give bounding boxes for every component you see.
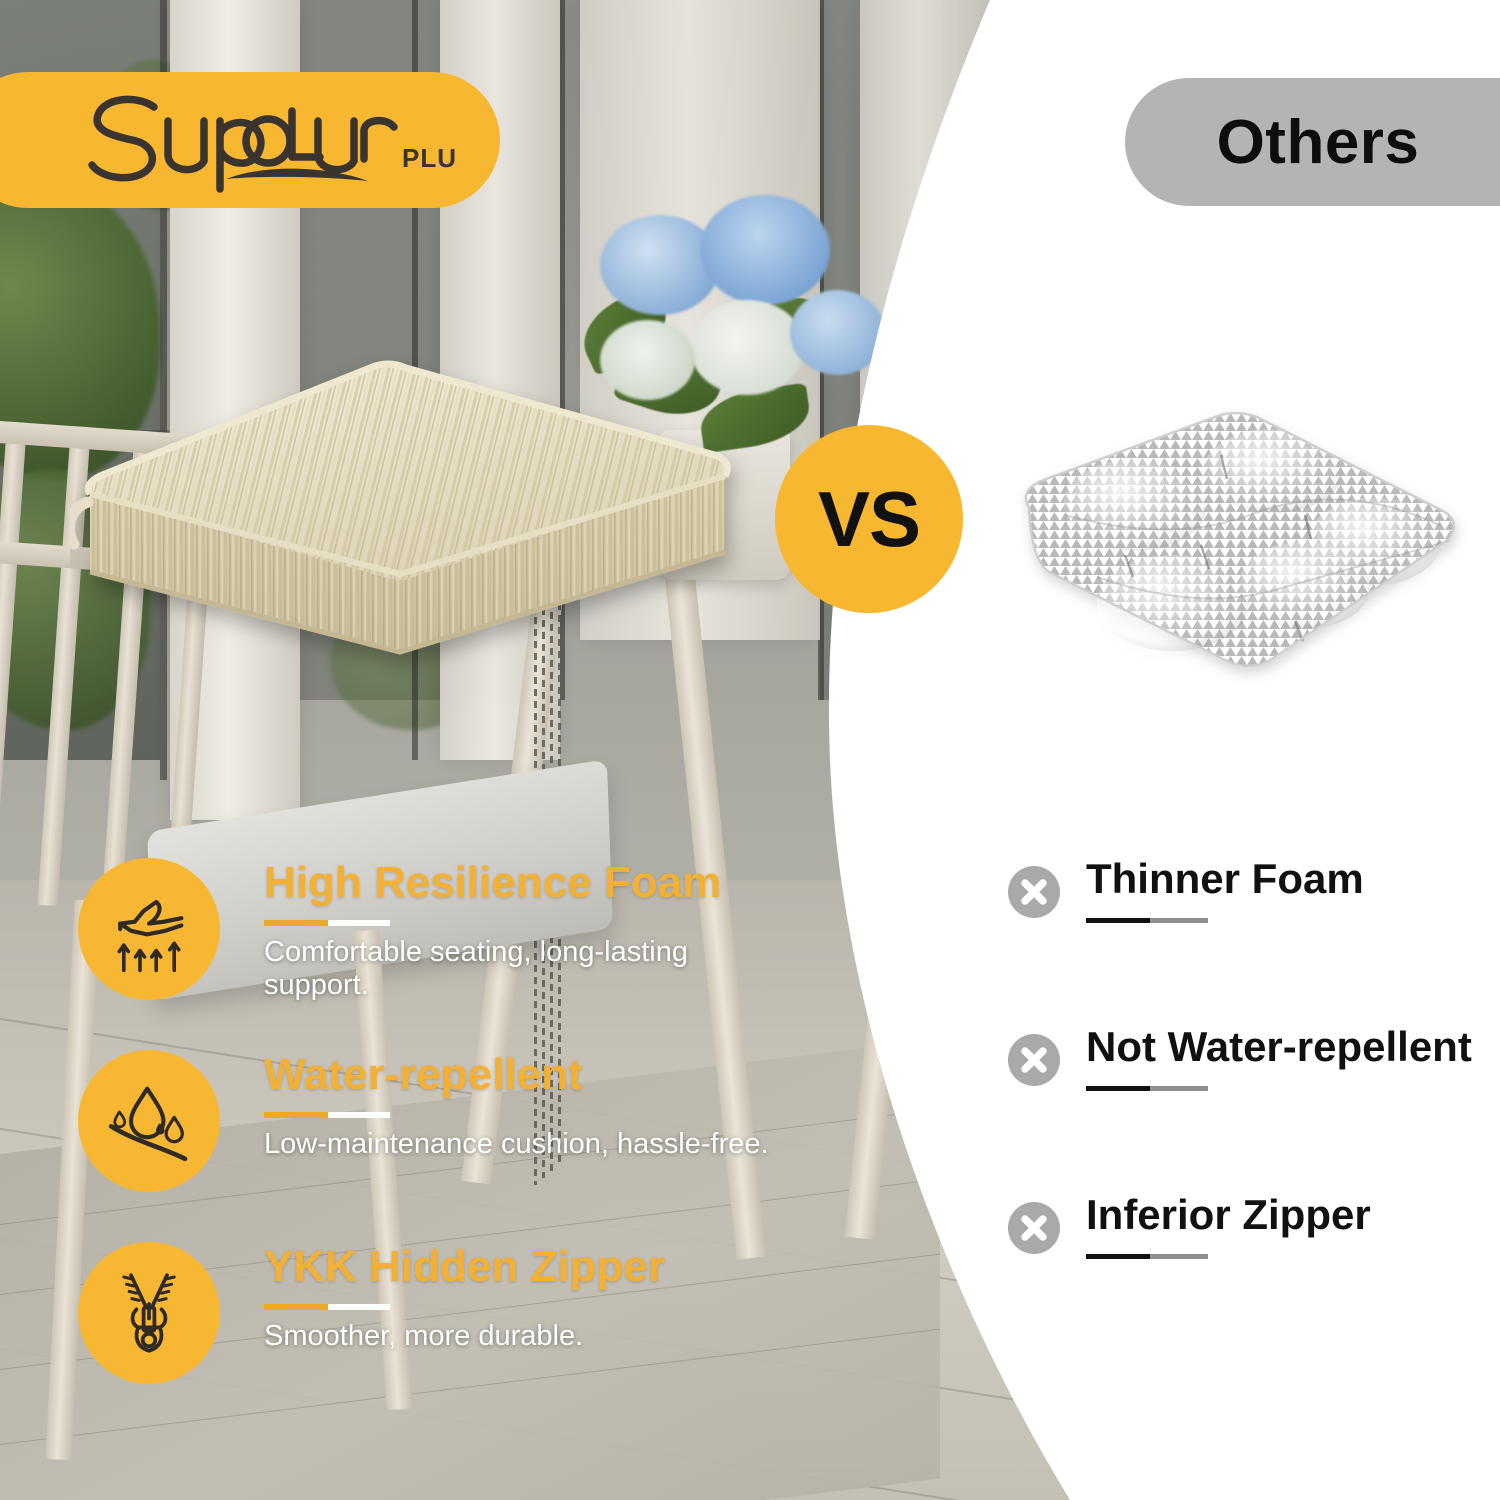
circle-x-icon bbox=[1008, 1034, 1060, 1086]
drawback-divider bbox=[1086, 1254, 1486, 1259]
hand-support-arrows-icon bbox=[78, 858, 220, 1000]
drawback-divider bbox=[1086, 1086, 1486, 1091]
drawback-divider bbox=[1086, 918, 1486, 923]
water-droplet-repellent-icon bbox=[78, 1050, 220, 1192]
feature-item: Water-repellent Low-maintenance cushion,… bbox=[78, 1044, 778, 1236]
product-feature-list: High Resilience Foam Comfortable seating… bbox=[78, 852, 778, 1428]
others-header-badge: Others bbox=[1125, 78, 1500, 206]
feature-subtitle: Smoother, more durable. bbox=[264, 1320, 784, 1353]
feature-title: High Resilience Foam bbox=[264, 860, 784, 906]
circle-x-icon bbox=[1008, 1202, 1060, 1254]
feature-title: YKK Hidden Zipper bbox=[264, 1244, 784, 1290]
feature-divider bbox=[264, 1304, 784, 1310]
zipper-icon bbox=[78, 1242, 220, 1384]
supdun-plus-logo: PLUS bbox=[68, 85, 458, 195]
drawback-title: Thinner Foam bbox=[1086, 856, 1486, 902]
feature-item: High Resilience Foam Comfortable seating… bbox=[78, 852, 778, 1044]
comparison-infographic: PLUS Others VS bbox=[0, 0, 1500, 1500]
competitor-drawback-list: Thinner Foam Not Water-repellent bbox=[1008, 862, 1478, 1366]
circle-x-icon bbox=[1008, 866, 1060, 918]
feature-divider bbox=[264, 1112, 784, 1118]
drawback-title: Inferior Zipper bbox=[1086, 1192, 1486, 1238]
vs-badge: VS bbox=[775, 425, 963, 613]
feature-item: YKK Hidden Zipper Smoother, more durable… bbox=[78, 1236, 778, 1428]
feature-subtitle: Comfortable seating, long-lasting suppor… bbox=[264, 936, 784, 1002]
others-header-label: Others bbox=[1217, 107, 1420, 178]
product-cushion-image bbox=[70, 352, 770, 692]
feature-title: Water-repellent bbox=[264, 1052, 784, 1098]
brand-logo-badge: PLUS bbox=[0, 72, 500, 208]
drawback-title: Not Water-repellent bbox=[1086, 1024, 1486, 1070]
drawback-item: Not Water-repellent bbox=[1008, 1030, 1478, 1198]
drawback-item: Inferior Zipper bbox=[1008, 1198, 1478, 1366]
feature-subtitle: Low-maintenance cushion, hassle-free. bbox=[264, 1128, 784, 1161]
feature-divider bbox=[264, 920, 784, 926]
logo-plus-text: PLUS bbox=[402, 143, 458, 173]
competitor-cushion-image bbox=[1005, 395, 1475, 705]
drawback-item: Thinner Foam bbox=[1008, 862, 1478, 1030]
vs-label: VS bbox=[818, 474, 920, 565]
